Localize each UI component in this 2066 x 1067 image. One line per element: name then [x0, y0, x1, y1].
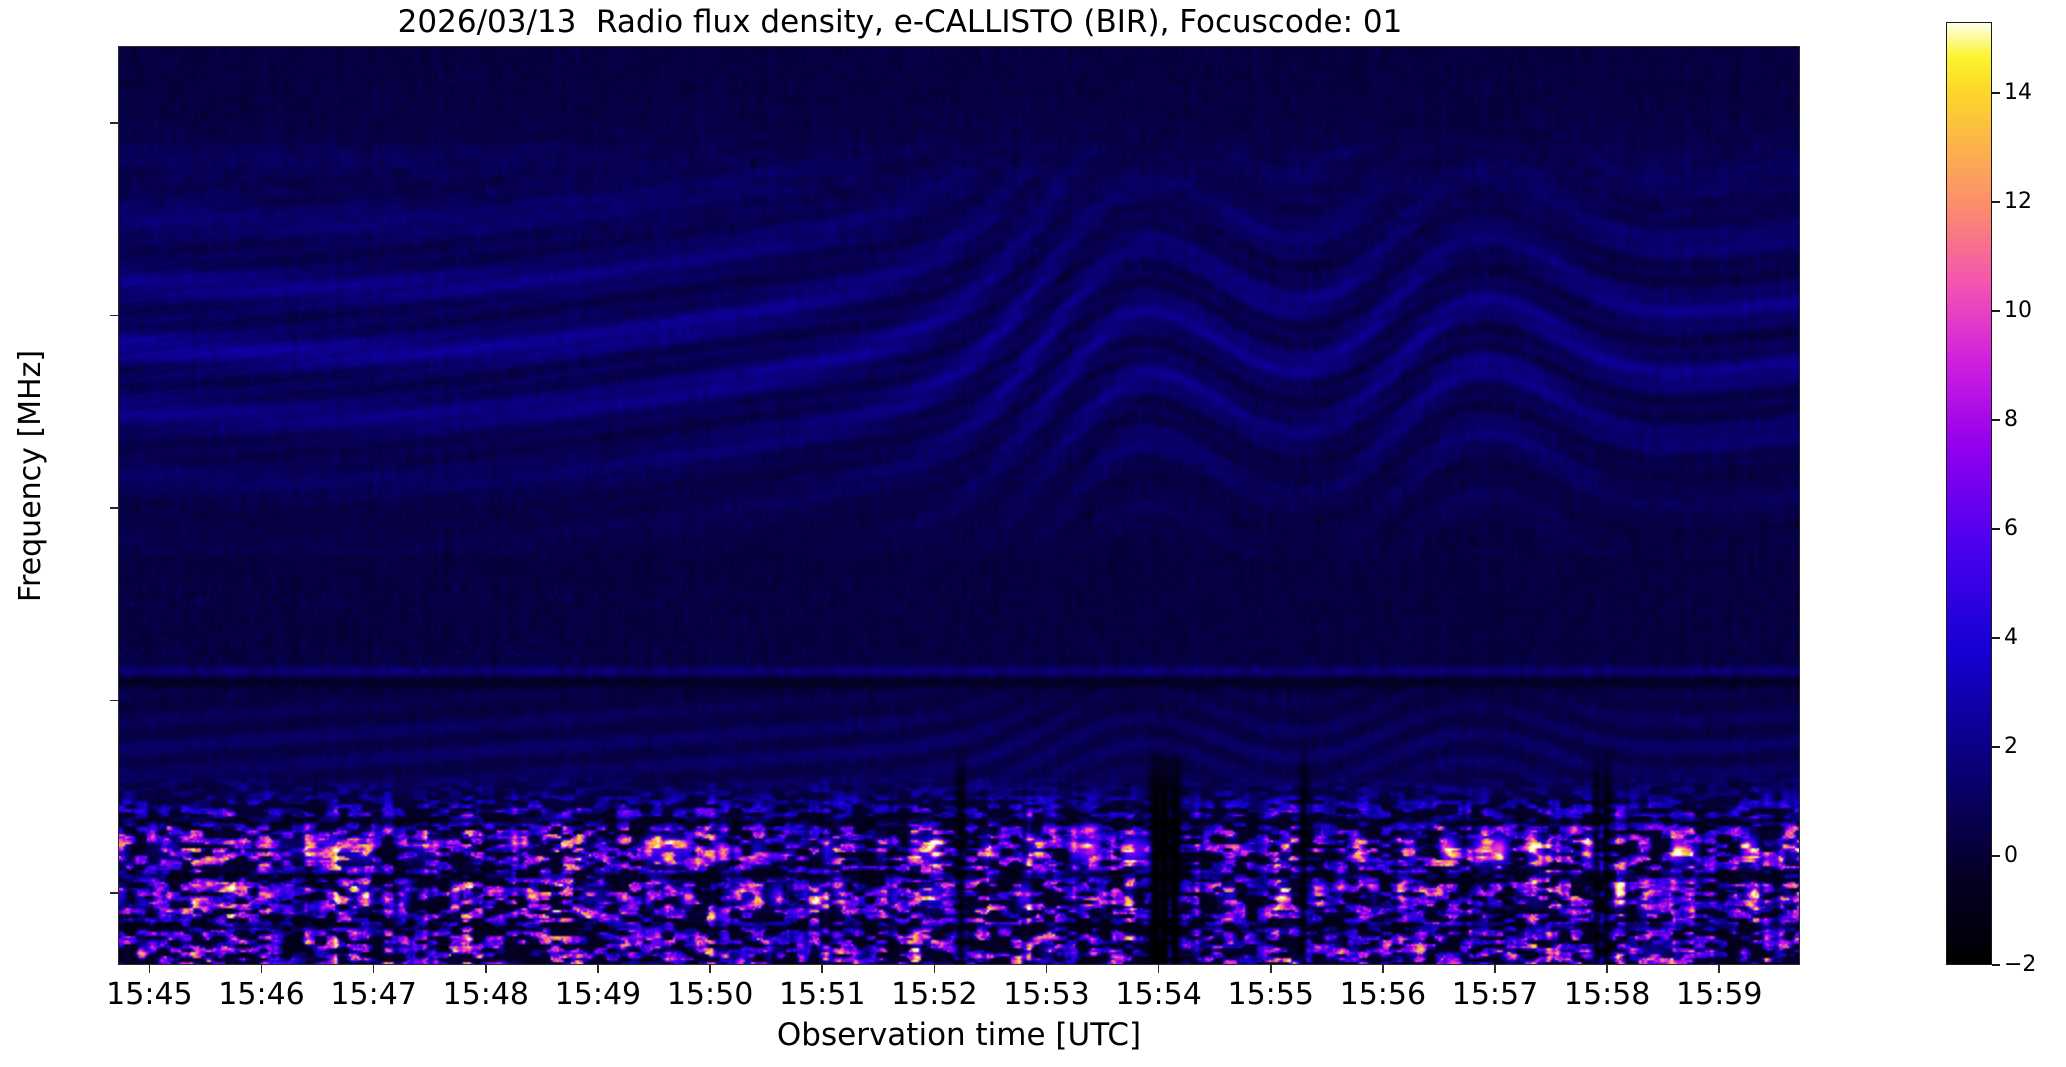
colorbar-tick-label: 8 — [2004, 409, 2058, 431]
colorbar-tick-label: 0 — [2004, 845, 2058, 867]
x-tick-mark — [1382, 965, 1384, 973]
x-axis-label: Observation time [UTC] — [118, 1018, 1800, 1052]
colorbar-tick-mark — [1992, 92, 2000, 94]
y-tick-mark — [110, 315, 118, 317]
x-tick-mark — [485, 965, 487, 973]
x-tick-mark — [1606, 965, 1608, 973]
x-tick-mark — [1718, 965, 1720, 973]
page-title: 2026/03/13 Radio flux density, e-CALLIST… — [0, 2, 1800, 42]
x-tick-mark — [261, 965, 263, 973]
x-tick-mark — [709, 965, 711, 973]
y-tick-mark — [110, 507, 118, 509]
spectrogram-axes[interactable] — [118, 46, 1800, 965]
y-axis-label: Frequency [MHz] — [15, 226, 47, 726]
colorbar-tick-mark — [1992, 964, 2000, 966]
colorbar-tick-mark — [1992, 310, 2000, 312]
colorbar-tick-label: 10 — [2004, 300, 2058, 322]
colorbar-tick-mark — [1992, 419, 2000, 421]
x-tick-mark — [1494, 965, 1496, 973]
x-tick-mark — [149, 965, 151, 973]
y-tick-mark — [110, 892, 118, 894]
x-tick-mark — [597, 965, 599, 973]
colorbar-tick-mark — [1992, 746, 2000, 748]
x-tick-mark — [934, 965, 936, 973]
x-tick-mark — [1158, 965, 1160, 973]
x-tick-label: 15:59 — [1639, 978, 1799, 1012]
colorbar-tick-mark — [1992, 855, 2000, 857]
colorbar-gradient — [1947, 23, 1991, 964]
colorbar-tick-label: 4 — [2004, 627, 2058, 649]
x-tick-mark — [1046, 965, 1048, 973]
figure-canvas: 2026/03/13 Radio flux density, e-CALLIST… — [0, 0, 2066, 1067]
colorbar-axes[interactable] — [1946, 22, 1992, 965]
x-tick-mark — [821, 965, 823, 973]
colorbar-tick-mark — [1992, 201, 2000, 203]
y-tick-mark — [110, 122, 118, 124]
spectrogram-image[interactable] — [119, 47, 1800, 965]
colorbar-tick-label: 12 — [2004, 191, 2058, 213]
colorbar-tick-mark — [1992, 637, 2000, 639]
x-tick-mark — [1270, 965, 1272, 973]
colorbar-tick-label: 6 — [2004, 518, 2058, 540]
colorbar-tick-mark — [1992, 528, 2000, 530]
colorbar-tick-label: 2 — [2004, 736, 2058, 758]
y-tick-mark — [110, 700, 118, 702]
colorbar-tick-label: 14 — [2004, 82, 2058, 104]
x-tick-mark — [373, 965, 375, 973]
colorbar-tick-label: −2 — [2004, 954, 2058, 976]
